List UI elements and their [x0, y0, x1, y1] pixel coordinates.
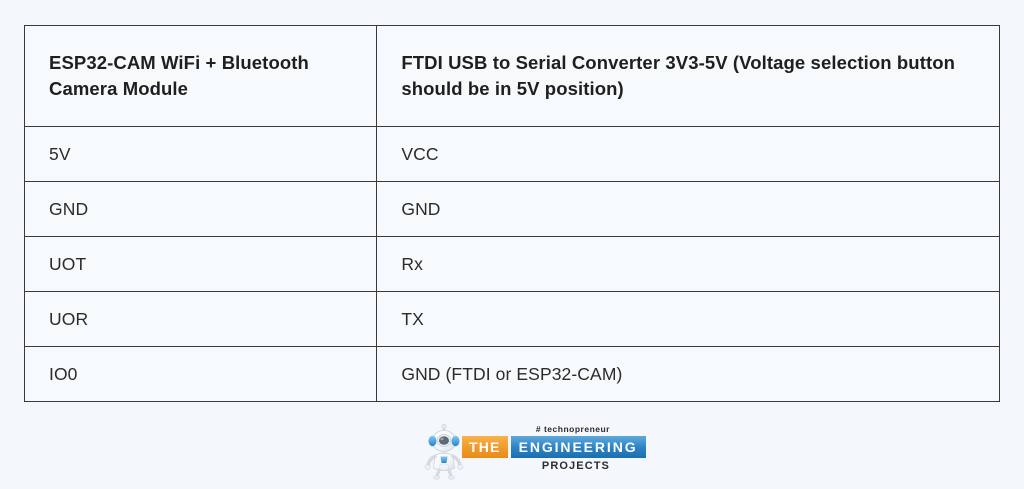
wiring-table: ESP32-CAM WiFi + Bluetooth Camera Module… — [24, 25, 1000, 402]
cell-esp32cam-pin: IO0 — [25, 347, 377, 402]
logo-word-engineering: ENGINEERING — [511, 436, 646, 458]
value-esp32cam-pin: UOR — [49, 309, 376, 330]
table-header-row: ESP32-CAM WiFi + Bluetooth Camera Module… — [25, 26, 1000, 127]
header-label-esp32cam: ESP32-CAM WiFi + Bluetooth Camera Module — [49, 50, 376, 101]
value-esp32cam-pin: 5V — [49, 144, 376, 165]
header-label-ftdi: FTDI USB to Serial Converter 3V3-5V (Vol… — [401, 50, 999, 101]
logo-word-projects: PROJECTS — [542, 460, 610, 472]
value-esp32cam-pin: UOT — [49, 254, 376, 275]
value-ftdi-pin: TX — [401, 309, 999, 330]
site-logo: # technopreneur THE ENGINEERING PROJECTS — [418, 420, 610, 482]
table-row: 5V VCC — [25, 127, 1000, 182]
cell-esp32cam-pin: GND — [25, 182, 377, 237]
table-row: GND GND — [25, 182, 1000, 237]
cell-esp32cam-pin: UOT — [25, 237, 377, 292]
table-row: IO0 GND (FTDI or ESP32-CAM) — [25, 347, 1000, 402]
cell-esp32cam-pin: UOR — [25, 292, 377, 347]
logo-tagline: # technopreneur — [536, 424, 610, 434]
table-row: UOT Rx — [25, 237, 1000, 292]
cell-ftdi-pin: TX — [377, 292, 1000, 347]
cell-ftdi-pin: GND (FTDI or ESP32-CAM) — [377, 347, 1000, 402]
value-esp32cam-pin: IO0 — [49, 364, 376, 385]
logo-wordmark: # technopreneur THE ENGINEERING PROJECTS — [462, 420, 610, 478]
logo-word-the: THE — [462, 436, 508, 458]
document-page: ESP32-CAM WiFi + Bluetooth Camera Module… — [0, 0, 1024, 489]
logo-bar: THE ENGINEERING — [462, 436, 646, 458]
table-body: ESP32-CAM WiFi + Bluetooth Camera Module… — [25, 26, 1000, 402]
value-ftdi-pin: GND — [401, 199, 999, 220]
cell-esp32cam-pin: 5V — [25, 127, 377, 182]
cell-ftdi-pin: GND — [377, 182, 1000, 237]
header-cell-esp32cam: ESP32-CAM WiFi + Bluetooth Camera Module — [25, 26, 377, 127]
value-esp32cam-pin: GND — [49, 199, 376, 220]
cell-ftdi-pin: VCC — [377, 127, 1000, 182]
value-ftdi-pin: GND (FTDI or ESP32-CAM) — [401, 364, 999, 385]
header-cell-ftdi: FTDI USB to Serial Converter 3V3-5V (Vol… — [377, 26, 1000, 127]
cell-ftdi-pin: Rx — [377, 237, 1000, 292]
value-ftdi-pin: Rx — [401, 254, 999, 275]
table-row: UOR TX — [25, 292, 1000, 347]
value-ftdi-pin: VCC — [401, 144, 999, 165]
